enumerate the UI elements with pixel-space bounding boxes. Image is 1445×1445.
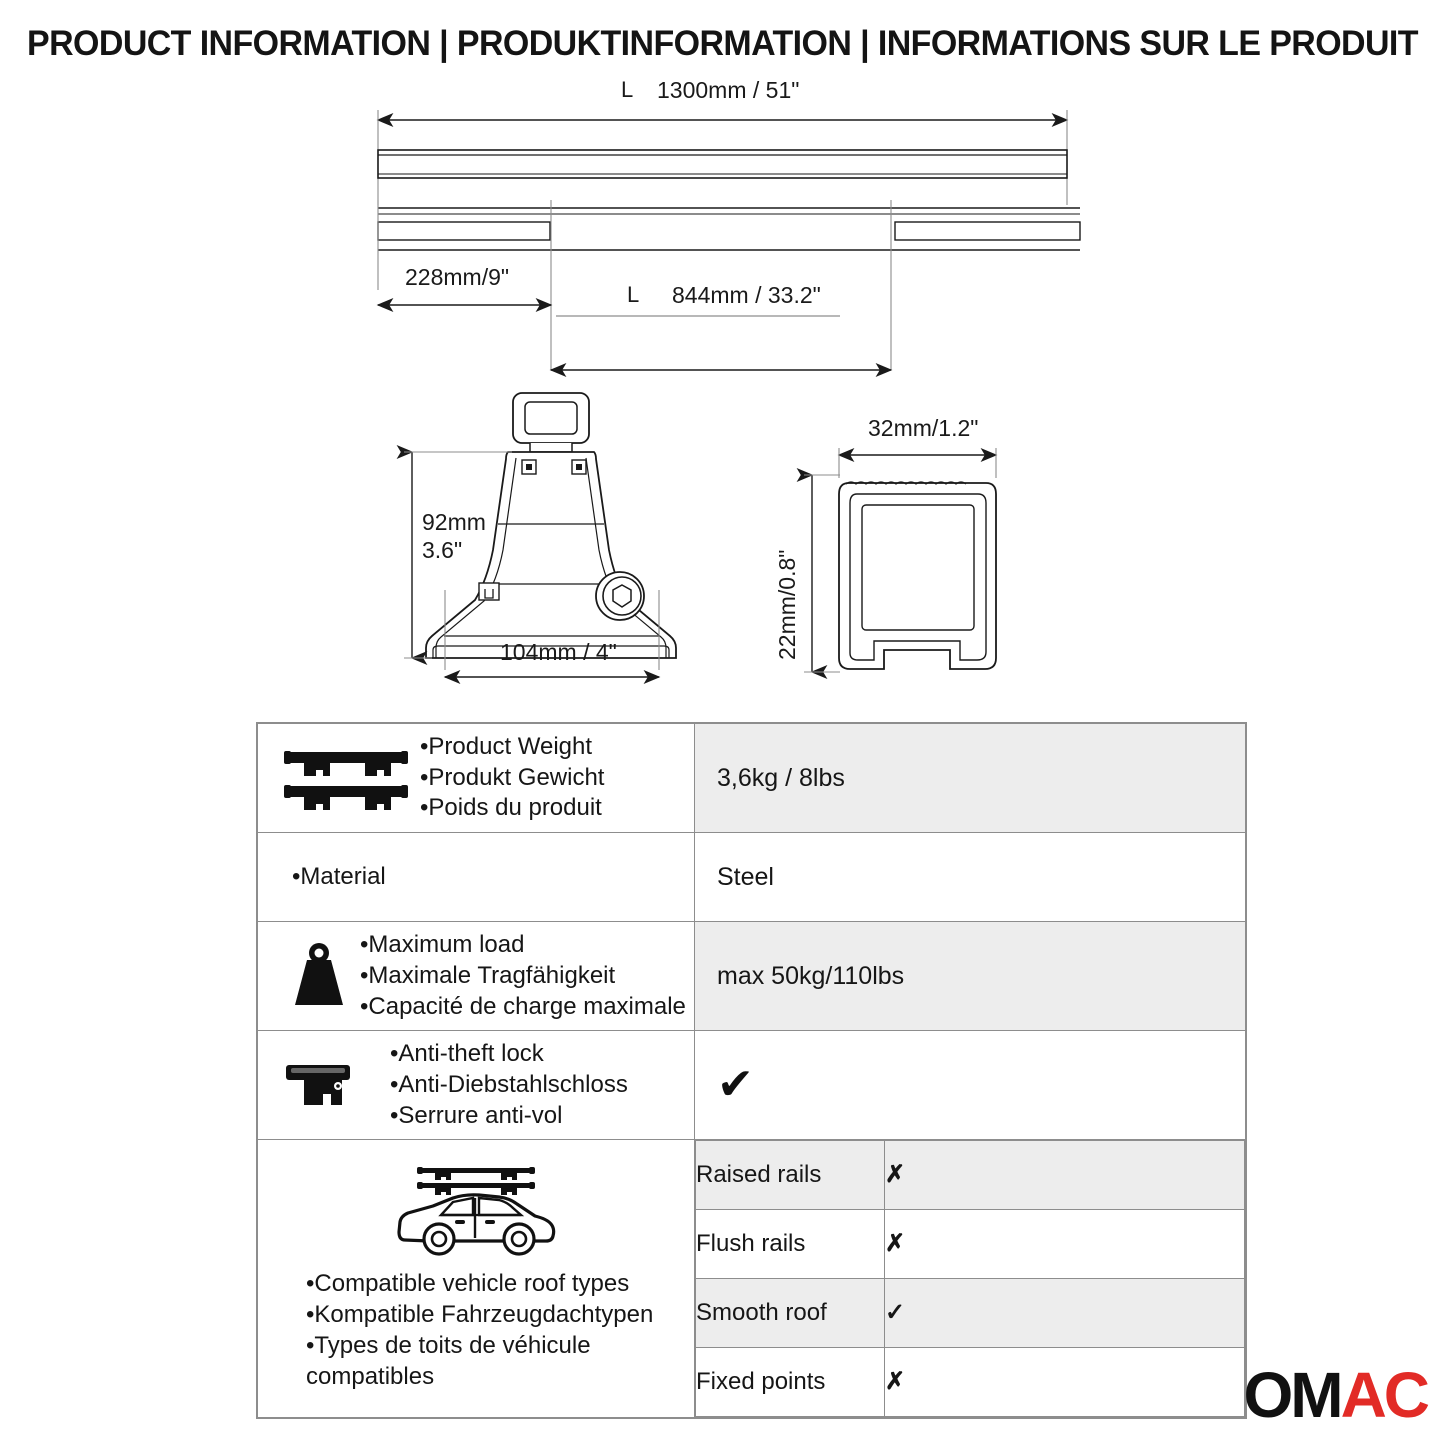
roof-type-name: Fixed points [696, 1348, 885, 1417]
specification-table: •Product Weight •Produkt Gewicht •Poids … [256, 722, 1247, 1419]
crossbars-icon [282, 742, 414, 814]
table-row-compatibility: •Compatible vehicle roof types •Kompatib… [258, 1140, 1246, 1418]
technical-drawing: L 1300mm / 51" 228mm/ [0, 80, 1445, 710]
dimension-bar-length: L 1300mm / 51" [378, 80, 1067, 205]
row-label-cell: •Material [258, 833, 695, 922]
row-label-text: •Product Weight •Produkt Gewicht •Poids … [420, 732, 604, 824]
dim-foot-height-line2: 3.6" [422, 537, 462, 563]
logo-text-ac: AC [1341, 1359, 1427, 1431]
car-with-crossbars-icon [391, 1162, 561, 1258]
row-label-cell: •Maximum load •Maximale Tragfähigkeit •C… [258, 922, 695, 1031]
table-row-product-weight: •Product Weight •Produkt Gewicht •Poids … [258, 724, 1246, 833]
row-value-cell: ✔ [695, 1031, 1246, 1140]
row-label-text: •Anti-theft lock •Anti-Diebstahlschloss … [390, 1039, 628, 1131]
product-weight-value: 3,6kg / 8lbs [695, 764, 1245, 793]
dim-span-prefix: L [627, 282, 639, 307]
compatibility-label-text: •Compatible vehicle roof types •Kompatib… [268, 1268, 684, 1393]
roof-type-mark: ✓ [885, 1279, 1245, 1348]
dim-profile-height-value: 22mm/0.8" [774, 550, 800, 660]
roof-type-row-smooth-roof: Smooth roof ✓ [696, 1279, 1245, 1348]
dim-profile-width-value: 32mm/1.2" [868, 415, 978, 441]
table-row-anti-theft-lock: •Anti-theft lock •Anti-Diebstahlschloss … [258, 1031, 1246, 1140]
dim-length-prefix: L [621, 80, 633, 102]
bar-side-view [378, 150, 1067, 178]
roof-types-cell: Raised rails ✗ Flush rails ✗ Smooth roof… [695, 1140, 1246, 1418]
roof-type-row-raised-rails: Raised rails ✗ [696, 1141, 1245, 1210]
table-row-material: •Material Steel [258, 833, 1246, 922]
lock-icon [282, 1057, 354, 1113]
row-label-cell: •Product Weight •Produkt Gewicht •Poids … [258, 724, 695, 833]
weight-icon [288, 941, 350, 1011]
profile-cross-section: 32mm/1.2" 22mm/0.8" [774, 415, 996, 672]
compatibility-label-cell: •Compatible vehicle roof types •Kompatib… [258, 1140, 695, 1418]
roof-type-mark: ✗ [885, 1348, 1245, 1417]
maximum-load-value: max 50kg/110lbs [695, 962, 1245, 991]
dim-offset-value: 228mm/9" [405, 264, 509, 290]
row-value-cell: Steel [695, 833, 1246, 922]
roof-type-name: Raised rails [696, 1141, 885, 1210]
material-value: Steel [695, 863, 1245, 892]
omac-logo: OMAC [1243, 1363, 1427, 1427]
row-label-cell: •Anti-theft lock •Anti-Diebstahlschloss … [258, 1031, 695, 1140]
roof-type-row-flush-rails: Flush rails ✗ [696, 1210, 1245, 1279]
dim-span-value: 844mm / 33.2" [672, 282, 821, 308]
table-row-maximum-load: •Maximum load •Maximale Tragfähigkeit •C… [258, 922, 1246, 1031]
roof-type-name: Smooth roof [696, 1279, 885, 1348]
page-title: PRODUCT INFORMATION | PRODUKTINFORMATION… [22, 24, 1424, 64]
row-label-text: •Maximum load •Maximale Tragfähigkeit •C… [360, 930, 686, 1022]
roof-type-name: Flush rails [696, 1210, 885, 1279]
roof-type-mark: ✗ [885, 1210, 1245, 1279]
dim-foot-height-line1: 92mm [422, 509, 486, 535]
roof-type-mark: ✗ [885, 1141, 1245, 1210]
dim-foot-width-value: 104mm / 4" [500, 639, 617, 665]
row-value-cell: 3,6kg / 8lbs [695, 724, 1246, 833]
row-value-cell: max 50kg/110lbs [695, 922, 1246, 1031]
dim-length-value: 1300mm / 51" [657, 80, 799, 103]
row-label-text: •Material [292, 862, 386, 893]
roof-types-table: Raised rails ✗ Flush rails ✗ Smooth roof… [695, 1140, 1245, 1417]
dimension-span: L 844mm / 33.2" [551, 282, 891, 370]
dimension-end-offset: 228mm/9" [378, 264, 551, 305]
roof-type-row-fixed-points: Fixed points ✗ [696, 1348, 1245, 1417]
logo-text-om: OM [1243, 1359, 1340, 1431]
anti-theft-lock-mark: ✔ [695, 1063, 1245, 1107]
